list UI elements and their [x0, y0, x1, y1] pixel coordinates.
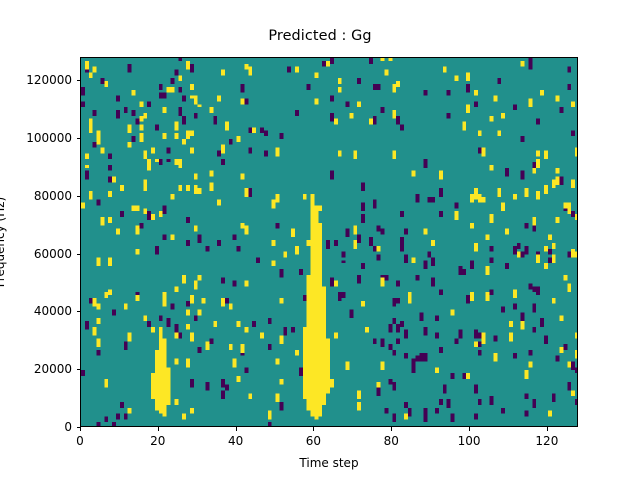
x-tick-mark: [547, 427, 548, 431]
y-tick-label: 60000: [0, 247, 72, 261]
x-axis-label-text: Time step: [299, 456, 358, 470]
x-tick-label: 80: [384, 434, 399, 448]
y-tick-label: 40000: [0, 304, 72, 318]
x-tick-mark: [313, 427, 314, 431]
y-tick-mark: [77, 196, 81, 197]
x-tick-label: 60: [306, 434, 321, 448]
x-tick-label: 120: [535, 434, 558, 448]
y-tick-mark: [77, 254, 81, 255]
y-tick-mark: [77, 138, 81, 139]
matplotlib-figure: Predicted : Gg 0200004000060000800001000…: [0, 0, 640, 480]
x-tick-mark: [158, 427, 159, 431]
page-title: Predicted : Gg: [0, 28, 640, 44]
heatmap-axes: [80, 57, 578, 427]
y-tick-label: 80000: [0, 189, 72, 203]
x-tick-label: 40: [228, 434, 243, 448]
x-tick-label: 100: [458, 434, 481, 448]
x-tick-label: 0: [76, 434, 84, 448]
x-tick-mark: [80, 427, 81, 431]
y-tick-mark: [77, 369, 81, 370]
heatmap-image: [81, 58, 578, 427]
y-tick-mark: [77, 311, 81, 312]
x-tick-mark: [391, 427, 392, 431]
x-tick-mark: [469, 427, 470, 431]
y-tick-label: 0: [0, 420, 72, 434]
y-tick-mark: [77, 80, 81, 81]
x-tick-label: 20: [150, 434, 165, 448]
y-tick-label: 100000: [0, 131, 72, 145]
x-axis-label: Time step: [80, 456, 578, 470]
x-tick-mark: [236, 427, 237, 431]
y-axis-label: Frequency (Hz): [0, 197, 7, 288]
y-tick-label: 120000: [0, 73, 72, 87]
y-tick-label: 20000: [0, 362, 72, 376]
y-axis-label-text: Frequency (Hz): [0, 197, 7, 288]
